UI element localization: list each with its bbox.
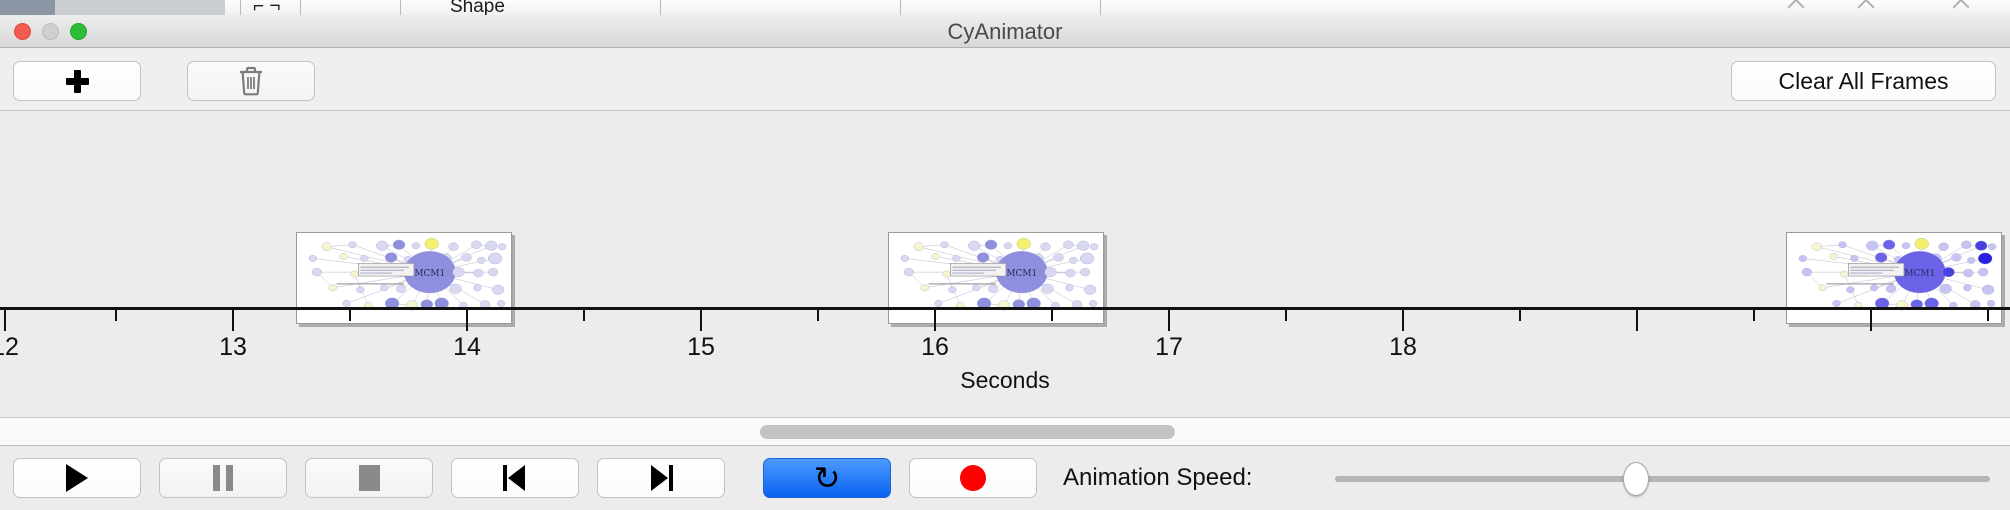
scrollbar-thumb[interactable] (760, 425, 1175, 439)
animation-speed-label: Animation Speed: (1063, 458, 1252, 498)
background-chip-dark (0, 0, 55, 15)
tick-label-16: 16 (921, 333, 949, 362)
frame-thumbnail[interactable]: MCM1 (888, 232, 1104, 324)
transport-bar: ↻ Animation Speed: (0, 446, 2010, 510)
title-bar: CyAnimator (0, 15, 2010, 48)
svg-text:MCM1: MCM1 (414, 269, 445, 279)
background-divider (1100, 0, 1101, 15)
tick-label-15: 15 (687, 333, 715, 362)
background-chip-grey (55, 0, 225, 15)
svg-text:MCM1: MCM1 (1006, 269, 1037, 279)
clear-all-frames-button[interactable]: Clear All Frames (1731, 61, 1996, 101)
stop-icon (359, 465, 380, 491)
background-divider (240, 0, 241, 15)
tick-label-18: 18 (1389, 333, 1417, 362)
play-icon (66, 464, 88, 492)
timeline-scrollbar[interactable] (0, 418, 2010, 446)
timeline-axis-line (0, 307, 2010, 310)
frame-thumbnail[interactable]: MCM1 (296, 232, 512, 324)
tick-major (934, 310, 936, 331)
tick-minor (583, 310, 585, 321)
background-divider (300, 0, 301, 15)
tick-minor (1519, 310, 1521, 321)
tick-major (700, 310, 702, 331)
svg-text:MCM1: MCM1 (1904, 269, 1935, 279)
clear-all-frames-label: Clear All Frames (1779, 68, 1949, 95)
timeline-panel[interactable]: MCM1MCM1MCM1 12131415161718 Seconds (0, 111, 2010, 418)
background-divider (660, 0, 661, 15)
skip-forward-icon (647, 465, 675, 491)
background-window-strip: ⌐ ¬ Shape (0, 0, 2010, 15)
background-divider (400, 0, 401, 15)
tick-minor (1870, 310, 1872, 321)
loop-icon: ↻ (814, 463, 841, 493)
tick-minor (1285, 310, 1287, 321)
loop-button[interactable]: ↻ (763, 458, 891, 498)
tick-minor (1753, 310, 1755, 321)
tick-major (466, 310, 468, 331)
tick-minor (817, 310, 819, 321)
tick-label-14: 14 (453, 333, 481, 362)
background-window-label: Shape (450, 0, 505, 15)
add-frame-button[interactable] (13, 61, 141, 101)
window-title: CyAnimator (0, 15, 2010, 48)
tick-major (1402, 310, 1404, 331)
trash-icon (238, 66, 264, 96)
tick-minor (1051, 310, 1053, 321)
tick-minor (349, 310, 351, 321)
frame-thumbnail[interactable]: MCM1 (1786, 232, 2002, 324)
pause-icon (213, 465, 233, 491)
pause-button[interactable] (159, 458, 287, 498)
frame-toolbar: Clear All Frames (0, 48, 2010, 111)
animation-speed-slider-thumb[interactable] (1623, 462, 1649, 496)
background-divider (900, 0, 901, 15)
plus-icon (63, 67, 91, 95)
tick-major (4, 310, 6, 331)
tick-minor (1987, 310, 1989, 321)
skip-back-icon (501, 465, 529, 491)
tick-major (1168, 310, 1170, 331)
tick-label-12: 12 (0, 333, 19, 362)
animation-speed-slider[interactable] (1335, 476, 1990, 482)
background-chevrons (1750, 0, 2010, 15)
tick-minor (1636, 310, 1638, 321)
tick-label-13: 13 (219, 333, 247, 362)
skip-end-button[interactable] (597, 458, 725, 498)
record-icon (960, 465, 986, 491)
record-button[interactable] (909, 458, 1037, 498)
delete-frame-button[interactable] (187, 61, 315, 101)
skip-start-button[interactable] (451, 458, 579, 498)
stop-button[interactable] (305, 458, 433, 498)
tick-label-17: 17 (1155, 333, 1183, 362)
axis-title: Seconds (0, 367, 2010, 394)
tick-minor (115, 310, 117, 321)
tick-major (232, 310, 234, 331)
background-glyph: ⌐ ¬ (253, 0, 280, 15)
play-button[interactable] (13, 458, 141, 498)
cyanimator-window: ⌐ ¬ Shape CyAnimator Clear All Frame (0, 0, 2010, 510)
